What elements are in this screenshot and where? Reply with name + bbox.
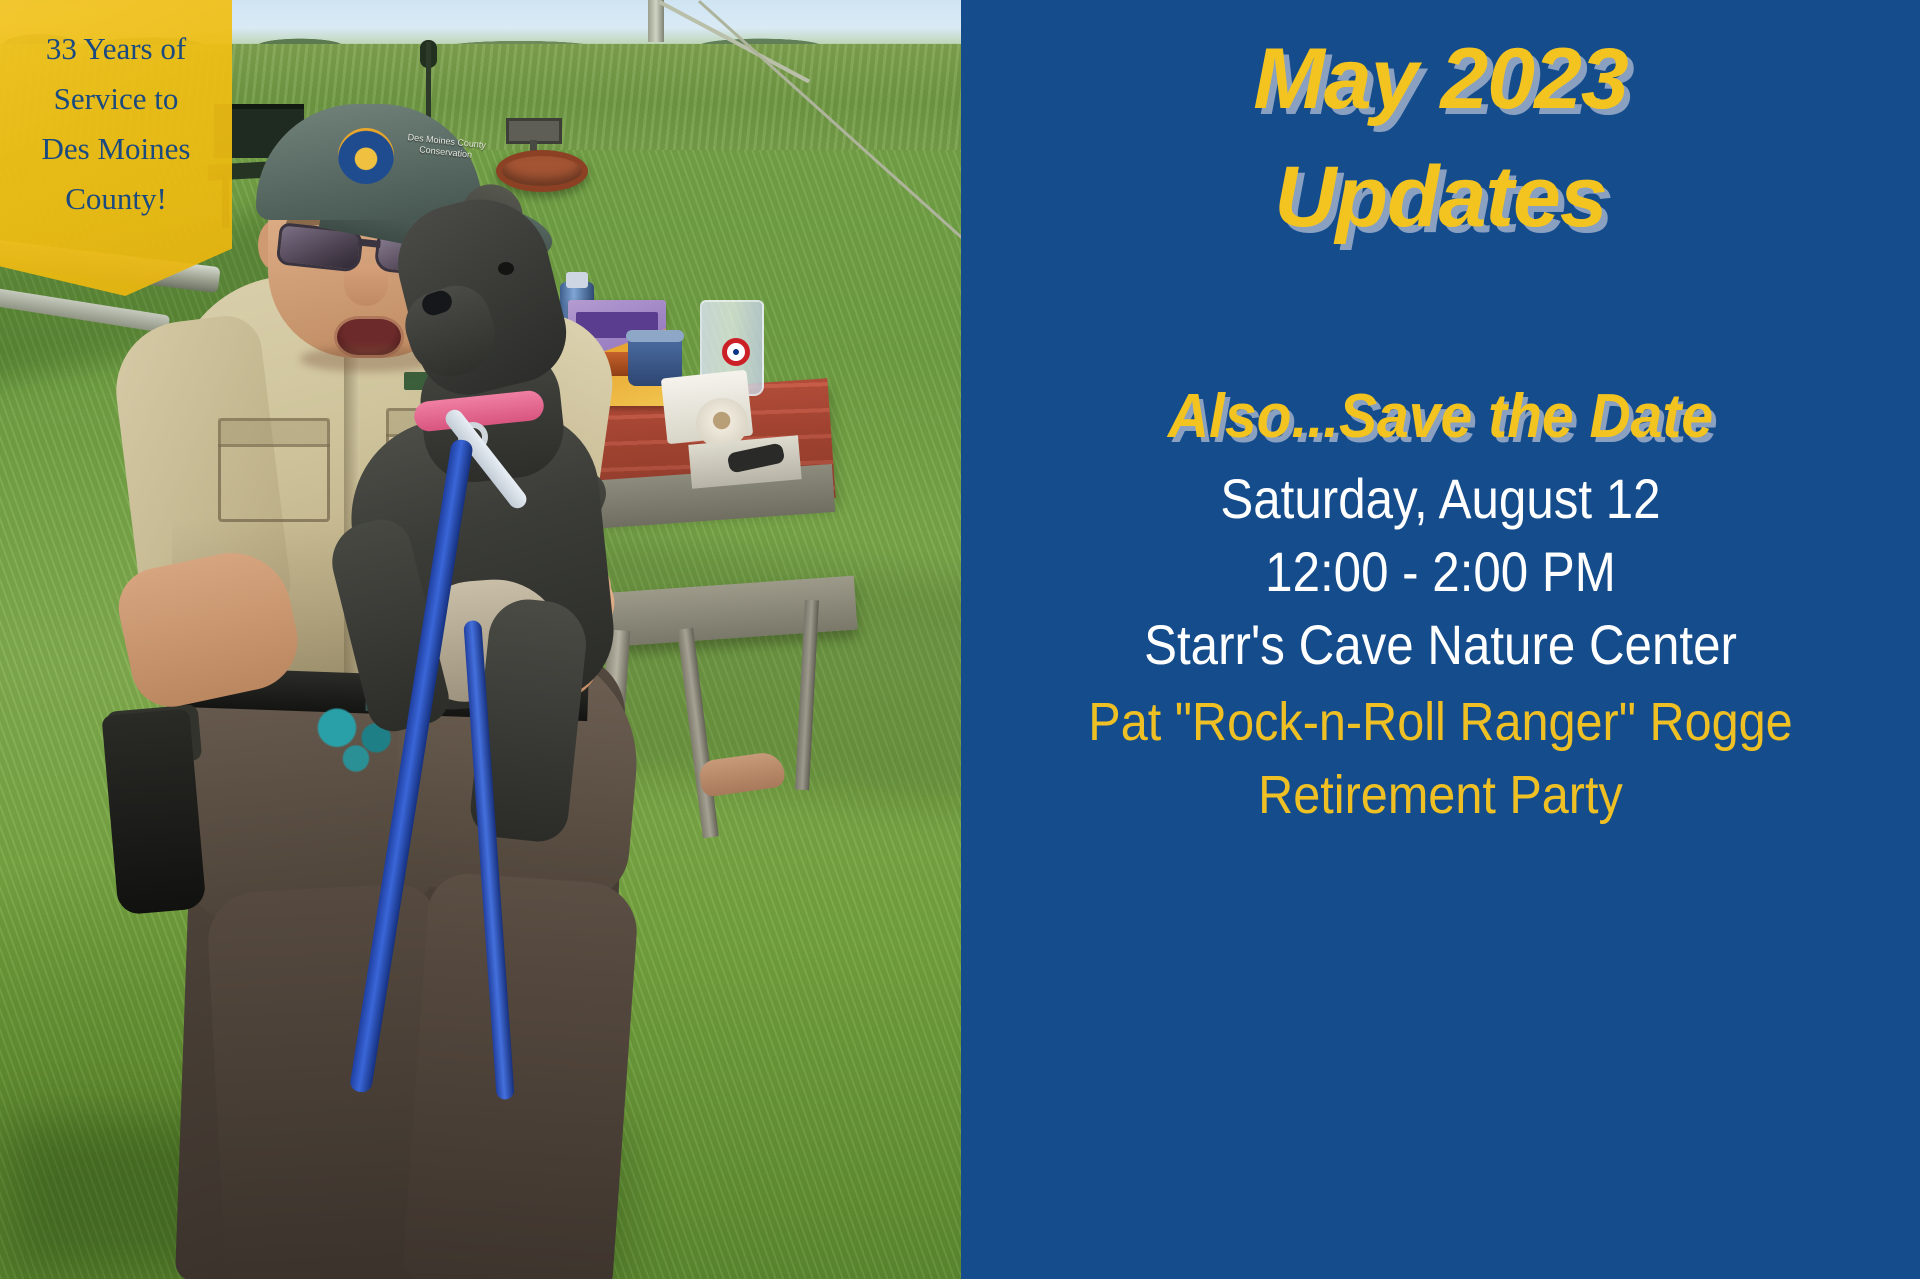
tent-pole xyxy=(648,0,664,42)
belt-holster xyxy=(101,709,206,916)
ranger-puppy-photo: Des Moines County Conservation xyxy=(0,0,961,1279)
ranger-shin xyxy=(402,871,640,1279)
banner-line-4: County! xyxy=(10,174,222,224)
banner-line-2: Service to xyxy=(10,74,222,124)
event-time: 12:00 - 2:00 PM xyxy=(1019,541,1863,603)
save-the-date-heading: Also...Save the Date xyxy=(999,378,1881,456)
poster-canvas: Des Moines County Conservation xyxy=(0,0,1920,1279)
puppy-figure xyxy=(330,200,660,840)
honoree-name: Pat "Rock-n-Roll Ranger" Rogge xyxy=(1009,692,1872,752)
puppy-eye xyxy=(498,262,514,275)
page-title-line-2: Updates xyxy=(961,152,1920,242)
banner-line-3: Des Moines xyxy=(10,124,222,174)
event-type: Retirement Party xyxy=(1009,765,1872,825)
info-panel: May 2023 Updates Also...Save the Date Sa… xyxy=(961,0,1920,1279)
page-title-line-1: May 2023 xyxy=(961,34,1920,124)
banner-line-1: 33 Years of xyxy=(10,24,222,74)
cap-conservation-logo-icon xyxy=(338,128,394,184)
shirt-pocket xyxy=(218,418,330,522)
event-date: Saturday, August 12 xyxy=(1019,468,1863,530)
cubs-logo-icon xyxy=(722,338,750,366)
years-of-service-banner-text: 33 Years of Service to Des Moines County… xyxy=(0,24,232,224)
event-location: Starr's Cave Nature Center xyxy=(1019,614,1863,676)
